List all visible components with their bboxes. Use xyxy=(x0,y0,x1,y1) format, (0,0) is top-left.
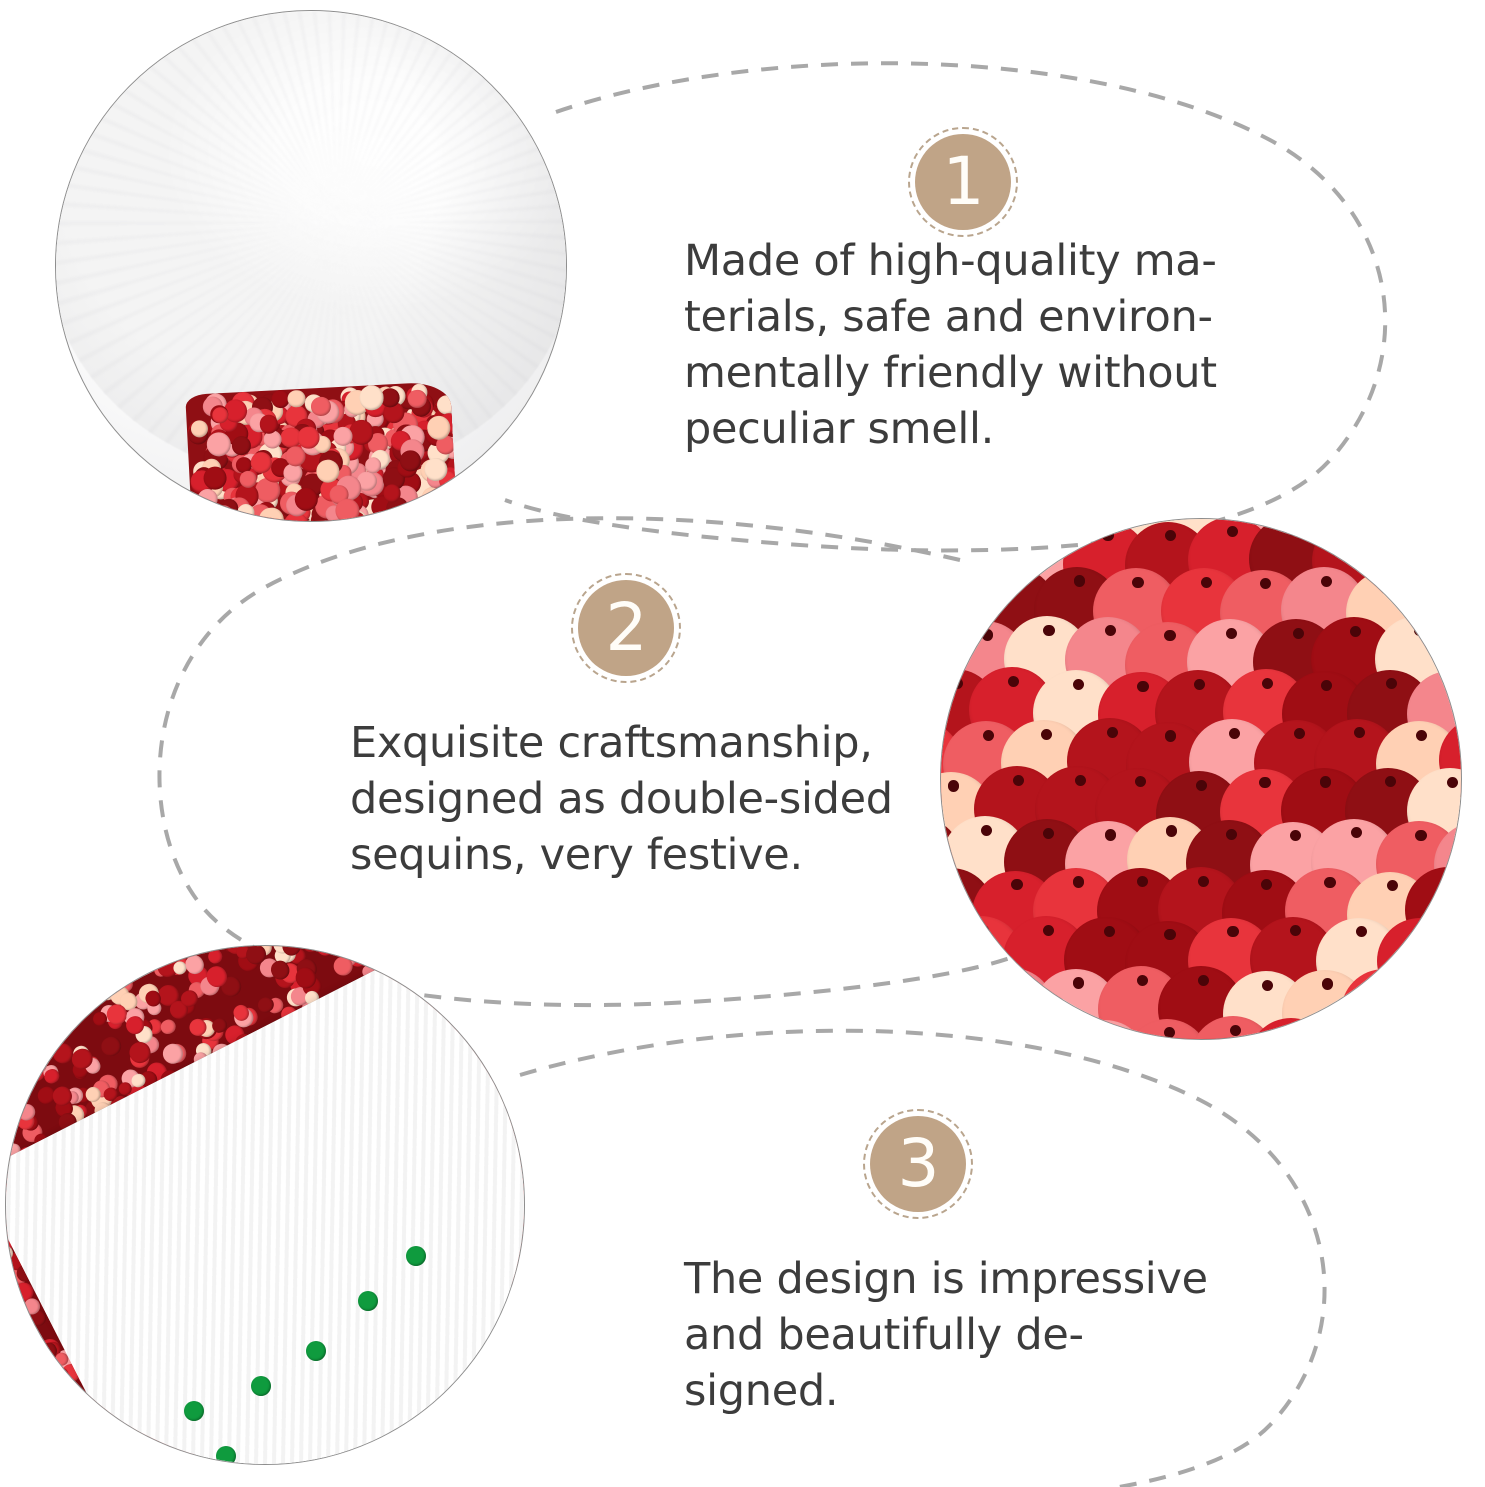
sequin-disc xyxy=(206,948,225,967)
sequin-disc xyxy=(5,1286,14,1310)
step-number-1: 1 xyxy=(943,149,984,215)
feature-text-3: The design is impressive and beautifully… xyxy=(684,1252,1264,1420)
sequin-disc xyxy=(158,1017,178,1037)
product-photo-pompom xyxy=(55,10,567,522)
sequin-disc xyxy=(211,505,235,522)
sequin-disc xyxy=(98,1033,124,1059)
product-photo-hat-with-fur xyxy=(5,945,525,1465)
sequin-disc xyxy=(130,945,158,961)
green-sequin-accent xyxy=(216,1446,236,1465)
step-badge-3: 3 xyxy=(870,1116,966,1212)
feature-text-1: Made of high-quality ma- terials, safe a… xyxy=(684,234,1264,458)
feature-text-2: Exquisite craftsmanship, designed as dou… xyxy=(350,716,930,884)
green-sequin-accent xyxy=(184,1401,204,1421)
step-number-3: 3 xyxy=(898,1131,939,1197)
infographic-canvas: 1 Made of high-quality ma- terials, safe… xyxy=(0,0,1485,1487)
sequin-disc xyxy=(412,503,433,522)
step-badge-2: 2 xyxy=(578,580,674,676)
sequin-disc xyxy=(170,945,189,946)
sequin-macro-field xyxy=(941,519,1461,1039)
green-sequin-accent xyxy=(251,1376,271,1396)
sequin-disc xyxy=(335,499,360,522)
step-number-2: 2 xyxy=(606,595,647,661)
green-sequin-accent xyxy=(406,1246,426,1266)
green-sequin-accent xyxy=(306,1341,326,1361)
sequin-disc xyxy=(188,945,207,952)
sequin-disc xyxy=(14,1078,35,1099)
sequin-band xyxy=(185,382,458,522)
green-sequin-accent xyxy=(358,1291,378,1311)
product-photo-sequin-macro xyxy=(940,518,1462,1040)
sequin-disc xyxy=(167,945,193,947)
step-badge-1: 1 xyxy=(915,134,1011,230)
